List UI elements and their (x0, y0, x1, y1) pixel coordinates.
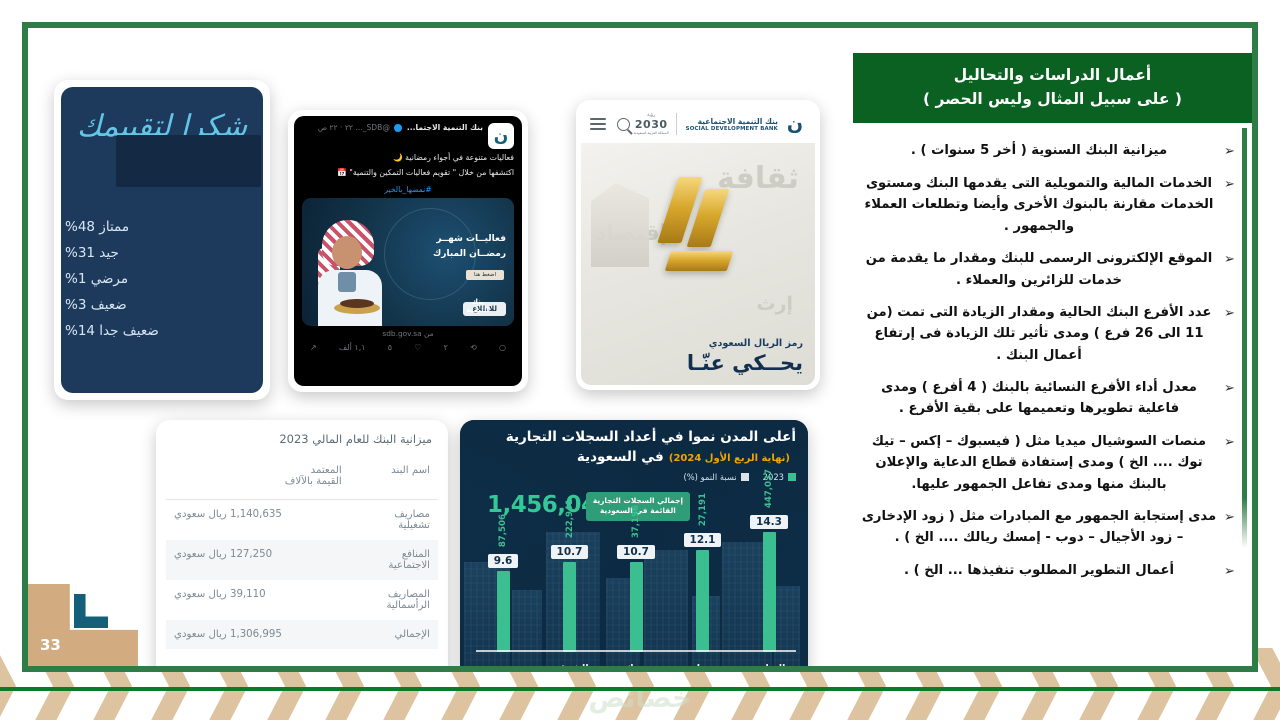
bullet-marker-icon: ➢ (1221, 302, 1238, 324)
bullet-marker-icon: ➢ (1221, 506, 1238, 528)
slide-frame-inner: 33 أعمال الدراسات والتحاليل ( على سبيل ا… (28, 28, 1252, 666)
bullet-marker-icon: ➢ (1221, 377, 1238, 399)
table-cell-item: مصاريفتشغيلية (350, 500, 438, 541)
vision-bottom-text: المملكة العربية السعودية (634, 131, 669, 135)
bullet-item: ➢معدل أداء الأفرع النسائية بالبنك ( 4 أف… (853, 377, 1238, 420)
table-cell-amount: 127,250 ريال سعودي (166, 540, 350, 580)
bullet-text: ميزانية البنك السنوية ( أخر 5 سنوات ) . (853, 140, 1221, 161)
chart-record-count-label: 37,196 (631, 505, 641, 538)
bullet-marker-icon: ➢ (1221, 248, 1238, 270)
tweet-body-line2: اكتشفها من خلال " تقويم فعاليات التمكين … (302, 167, 514, 179)
website-screenshot-card: ن بنك التنمية الاجتماعية SOCIAL DEVELOPM… (576, 100, 820, 390)
bullet-item: ➢مدى إستجابة الجمهور مع المبادرات مثل ( … (853, 506, 1238, 549)
teal-corner-icon (74, 594, 108, 628)
chart-bars: 447,03714.327,19112.137,19610.7222,94110… (476, 532, 796, 652)
bullet-item: ➢أعمال التطوير المطلوب تنفيذها ... الخ )… (853, 560, 1238, 582)
table-header-row: اسم البند المعتمد القيمة بالآلاف (166, 456, 438, 500)
table-row: المنافعالاجتماعية127,250 ريال سعودي (166, 540, 438, 580)
chart-x-axis (476, 650, 796, 652)
slide-root: خصائص 33 أعمال الدراسات والتحاليل ( على … (0, 0, 1280, 720)
budget-table-title: ميزانية البنك للعام المالي 2023 (166, 428, 438, 456)
chart-title: أعلى المدن نموا في أعداد السجلات التجاري… (506, 428, 796, 465)
chart-bar-group: 27,19112.1 (676, 532, 730, 652)
ad-brand-mark: بنك التنمية (463, 298, 492, 314)
ad-headline-line1: فعاليــات شهــر (433, 232, 506, 246)
bullet-marker-icon: ➢ (1221, 173, 1238, 195)
tweet-hashtag[interactable]: #نمضها_بالخير (302, 185, 514, 194)
hamburger-menu-icon[interactable] (590, 115, 606, 133)
tweet-header: ن بنك التنمية الاجتما... @SDB_... ٢٢ · ٢… (302, 123, 514, 149)
tweet-avatar: ن (488, 123, 514, 149)
chart-growth-label: 10.7 (617, 545, 655, 559)
tweet-body-line1: فعاليات متنوعة في أجواء رمضانية 🌙 (302, 152, 514, 164)
bullet-text: مدى إستجابة الجمهور مع المبادرات مثل ( ز… (853, 506, 1221, 549)
vision-2030-logo: رؤية 2030 المملكة العربية السعودية (634, 113, 677, 135)
column-header-approved: المعتمد القيمة بالآلاف (166, 456, 350, 500)
tweet-screenshot-card: ن بنك التنمية الاجتما... @SDB_... ٢٢ · ٢… (288, 110, 528, 392)
budget-table-card: ميزانية البنك للعام المالي 2023 اسم البن… (156, 420, 448, 666)
rating-card-inner: شكرا لتقييمك ممتاز 48%جيد 31%مرضي 1%ضعيف… (61, 87, 263, 393)
slide-frame: 33 أعمال الدراسات والتحاليل ( على سبيل ا… (22, 22, 1258, 672)
share-icon[interactable]: ↗ (310, 343, 317, 352)
rating-row: جيد 31% (61, 241, 247, 267)
bullet-text: معدل أداء الأفرع النسائية بالبنك ( 4 أفر… (853, 377, 1221, 420)
budget-table-body: مصاريفتشغيلية1,140,635 ريال سعوديالمنافع… (166, 500, 438, 650)
chart-record-count-label: 27,191 (698, 493, 708, 526)
tweet-timestamp: ٢٢ · ٢٢ ص (318, 123, 353, 132)
table-cell-item: المنافعالاجتماعية (350, 540, 438, 580)
ad-headline: فعاليــات شهــر رمضــان المبارك (433, 232, 506, 261)
table-cell-item: المصاريفالرأسمالية (350, 580, 438, 620)
brand-name-arabic: بنك التنمية الاجتماعية (686, 117, 778, 126)
section-title-line1: أعمال الدراسات والتحاليل (865, 63, 1240, 87)
chart-record-count-label: 447,037 (764, 469, 774, 508)
legend-swatch-grey (741, 473, 749, 481)
column-header-item: اسم البند (350, 456, 438, 500)
chart-category-label: الرياض (742, 663, 796, 666)
rating-breakdown-list: ممتاز 48%جيد 31%مرضي 1%ضعيف 3%ضعيف جدا 1… (61, 215, 247, 345)
chart-subtitle: (نهاية الربع الأول 2024) (669, 453, 790, 464)
views-count[interactable]: ١,١ ألف (339, 343, 366, 352)
legend-swatch-green (788, 473, 796, 481)
chart-bar-group: 447,03714.3 (742, 532, 796, 652)
chart-category-label: تبوك (609, 663, 663, 666)
table-cell-amount: 1,306,995 ريال سعودي (166, 620, 350, 649)
bullet-marker-icon: ➢ (1221, 560, 1238, 582)
website-header: ن بنك التنمية الاجتماعية SOCIAL DEVELOPM… (581, 105, 815, 143)
table-cell-item: الإجمالي (350, 620, 438, 649)
bullet-text: عدد الأفرع البنك الحالية ومقدار الزيادة … (853, 302, 1221, 366)
tweet-account-name: بنك التنمية الاجتما... (407, 123, 483, 132)
chart-bar (630, 562, 643, 652)
tweet-source-link[interactable]: من sdb.gov.sa (302, 329, 514, 338)
chart-legend: 2023 نسبة النمو (%) (683, 472, 796, 482)
ad-headline-line2: رمضــان المبارك (433, 247, 506, 261)
bullet-item: ➢منصات السوشيال ميديا مثل ( فيسبوك – إكس… (853, 431, 1238, 495)
chart-category-label: عسير (476, 663, 530, 666)
column-header-approved-l1: المعتمد (174, 465, 342, 476)
tweet-handle: @SDB_... (355, 123, 390, 132)
table-cell-amount: 1,140,635 ريال سعودي (166, 500, 350, 541)
bullet-marker-icon: ➢ (1221, 140, 1238, 162)
chart-growth-label: 12.1 (684, 533, 722, 547)
chart-bar-group: 37,19610.7 (609, 532, 663, 652)
chart-inner: أعلى المدن نموا في أعداد السجلات التجاري… (460, 420, 808, 666)
rating-row: ضعيف 3% (61, 293, 247, 319)
bullet-item: ➢عدد الأفرع البنك الحالية ومقدار الزيادة… (853, 302, 1238, 366)
bullet-item: ➢الخدمات المالية والتمويلية التى يقدمها … (853, 173, 1238, 237)
hero-caption: رمز الريال السعودي يحــكي عنّـا (687, 338, 803, 375)
chart-category-label: نجران (676, 663, 730, 666)
bullet-marker-icon: ➢ (1221, 431, 1238, 453)
verified-badge-icon (394, 124, 402, 132)
chart-category-label: الشرقية (543, 663, 597, 666)
table-cell-amount: 39,110 ريال سعودي (166, 580, 350, 620)
customer-rating-card: شكرا لتقييمك ممتاز 48%جيد 31%مرضي 1%ضعيف… (54, 80, 270, 400)
chart-bar (763, 532, 776, 652)
hero-caption-small: رمز الريال السعودي (687, 338, 803, 349)
bullet-text: الموقع الإلكترونى الرسمى للبنك ومقدار ما… (853, 248, 1221, 291)
chart-growth-label: 10.7 (551, 545, 589, 559)
bullet-text: أعمال التطوير المطلوب تنفيذها ... الخ ) … (853, 560, 1221, 581)
chart-x-axis-labels: الرياضنجرانتبوكالشرقيةعسير (476, 663, 796, 666)
legend-item-growth: نسبة النمو (%) (683, 472, 748, 482)
rating-row: مرضي 1% (61, 267, 247, 293)
bullet-text: منصات السوشيال ميديا مثل ( فيسبوك – إكس … (853, 431, 1221, 495)
right-content-column: أعمال الدراسات والتحاليل ( على سبيل المث… (847, 28, 1252, 666)
bullet-list: ➢ميزانية البنك السنوية ( أخر 5 سنوات ) .… (853, 140, 1238, 593)
sdb-logo-icon: ن (784, 112, 806, 136)
section-title-line2: ( على سبيل المثال وليس الحصر ) (865, 87, 1240, 111)
chart-bar (696, 550, 709, 652)
rating-screen-placeholder (116, 135, 261, 187)
section-title-banner: أعمال الدراسات والتحاليل ( على سبيل المث… (853, 53, 1252, 123)
chart-bar (563, 562, 576, 652)
hero-caption-big: يحــكي عنّـا (687, 351, 803, 375)
bottom-green-rule (0, 687, 1280, 691)
page-number: 33 (40, 636, 61, 654)
brand-name-english: SOCIAL DEVELOPMENT BANK (686, 126, 778, 132)
rating-row: ضعيف جدا 14% (61, 319, 247, 345)
tweet-meta: بنك التنمية الاجتما... @SDB_... ٢٢ · ٢٢ … (302, 123, 483, 133)
like-icon[interactable]: ♡ (414, 343, 421, 352)
photo-subject-illustration (308, 214, 394, 326)
ad-small-button[interactable]: اضغط هنا (466, 270, 504, 280)
hero-word-heritage: إرث (756, 293, 793, 315)
column-header-approved-l2: القيمة بالآلاف (174, 476, 342, 487)
tweet-action-bar: ↗ ١,١ ألف ٥ ♡ ٢ ⟲ ○ (302, 338, 514, 352)
page-number-block: 33 (28, 584, 138, 666)
chart-growth-label: 14.3 (750, 515, 788, 529)
tweet-inner: ن بنك التنمية الاجتما... @SDB_... ٢٢ · ٢… (294, 116, 522, 386)
chart-plot-area: 447,03714.327,19112.137,19610.7222,94110… (476, 532, 796, 652)
website-inner: ن بنك التنمية الاجتماعية SOCIAL DEVELOPM… (581, 105, 815, 385)
bullet-text: الخدمات المالية والتمويلية التى يقدمها ا… (853, 173, 1221, 237)
bullet-item: ➢ميزانية البنك السنوية ( أخر 5 سنوات ) . (853, 140, 1238, 162)
green-vertical-accent-line (1242, 128, 1247, 548)
website-hero-banner: ثقافة إقتصاد إرث رمز الريال السعودي يحــ… (581, 143, 815, 385)
growth-chart-card: أعلى المدن نموا في أعداد السجلات التجاري… (460, 420, 808, 666)
table-row: مصاريفتشغيلية1,140,635 ريال سعودي (166, 500, 438, 541)
comment-icon[interactable]: ○ (499, 343, 506, 352)
like-count[interactable]: ٥ (388, 343, 392, 352)
bullet-item: ➢الموقع الإلكترونى الرسمى للبنك ومقدار م… (853, 248, 1238, 291)
riyal-symbol-graphic (638, 177, 758, 287)
chart-growth-label: 9.6 (488, 554, 519, 568)
chart-bar-group: 87,5069.6 (476, 532, 530, 652)
chart-bar-group: 222,94110.7 (543, 532, 597, 652)
vision-number: 2030 (634, 118, 669, 131)
rating-row: ممتاز 48% (61, 215, 247, 241)
table-row: المصاريفالرأسمالية39,110 ريال سعودي (166, 580, 438, 620)
table-row: الإجمالي1,306,995 ريال سعودي (166, 620, 438, 649)
chart-title-line2: في السعودية (577, 449, 664, 465)
chart-record-count-label: 222,941 (565, 499, 575, 538)
website-header-icons (590, 115, 630, 133)
chevron-shape (0, 648, 16, 720)
retweet-icon[interactable]: ⟲ (470, 343, 477, 352)
chart-record-count-label: 87,506 (498, 514, 508, 547)
tweet-media-image[interactable]: فعاليــات شهــر رمضــان المبارك اضغط هنا… (302, 198, 514, 326)
budget-table: اسم البند المعتمد القيمة بالآلاف مصاريفت… (166, 456, 438, 649)
legend-label-growth: نسبة النمو (%) (683, 472, 736, 482)
chart-title-line1: أعلى المدن نموا في أعداد السجلات التجاري… (506, 428, 796, 446)
chart-bar (497, 571, 510, 652)
search-icon[interactable] (617, 118, 630, 131)
retweet-count[interactable]: ٢ (444, 343, 448, 352)
website-brand[interactable]: ن بنك التنمية الاجتماعية SOCIAL DEVELOPM… (634, 112, 806, 136)
ad-cta-button[interactable]: للاطلاع بنك التنمية (463, 302, 506, 316)
